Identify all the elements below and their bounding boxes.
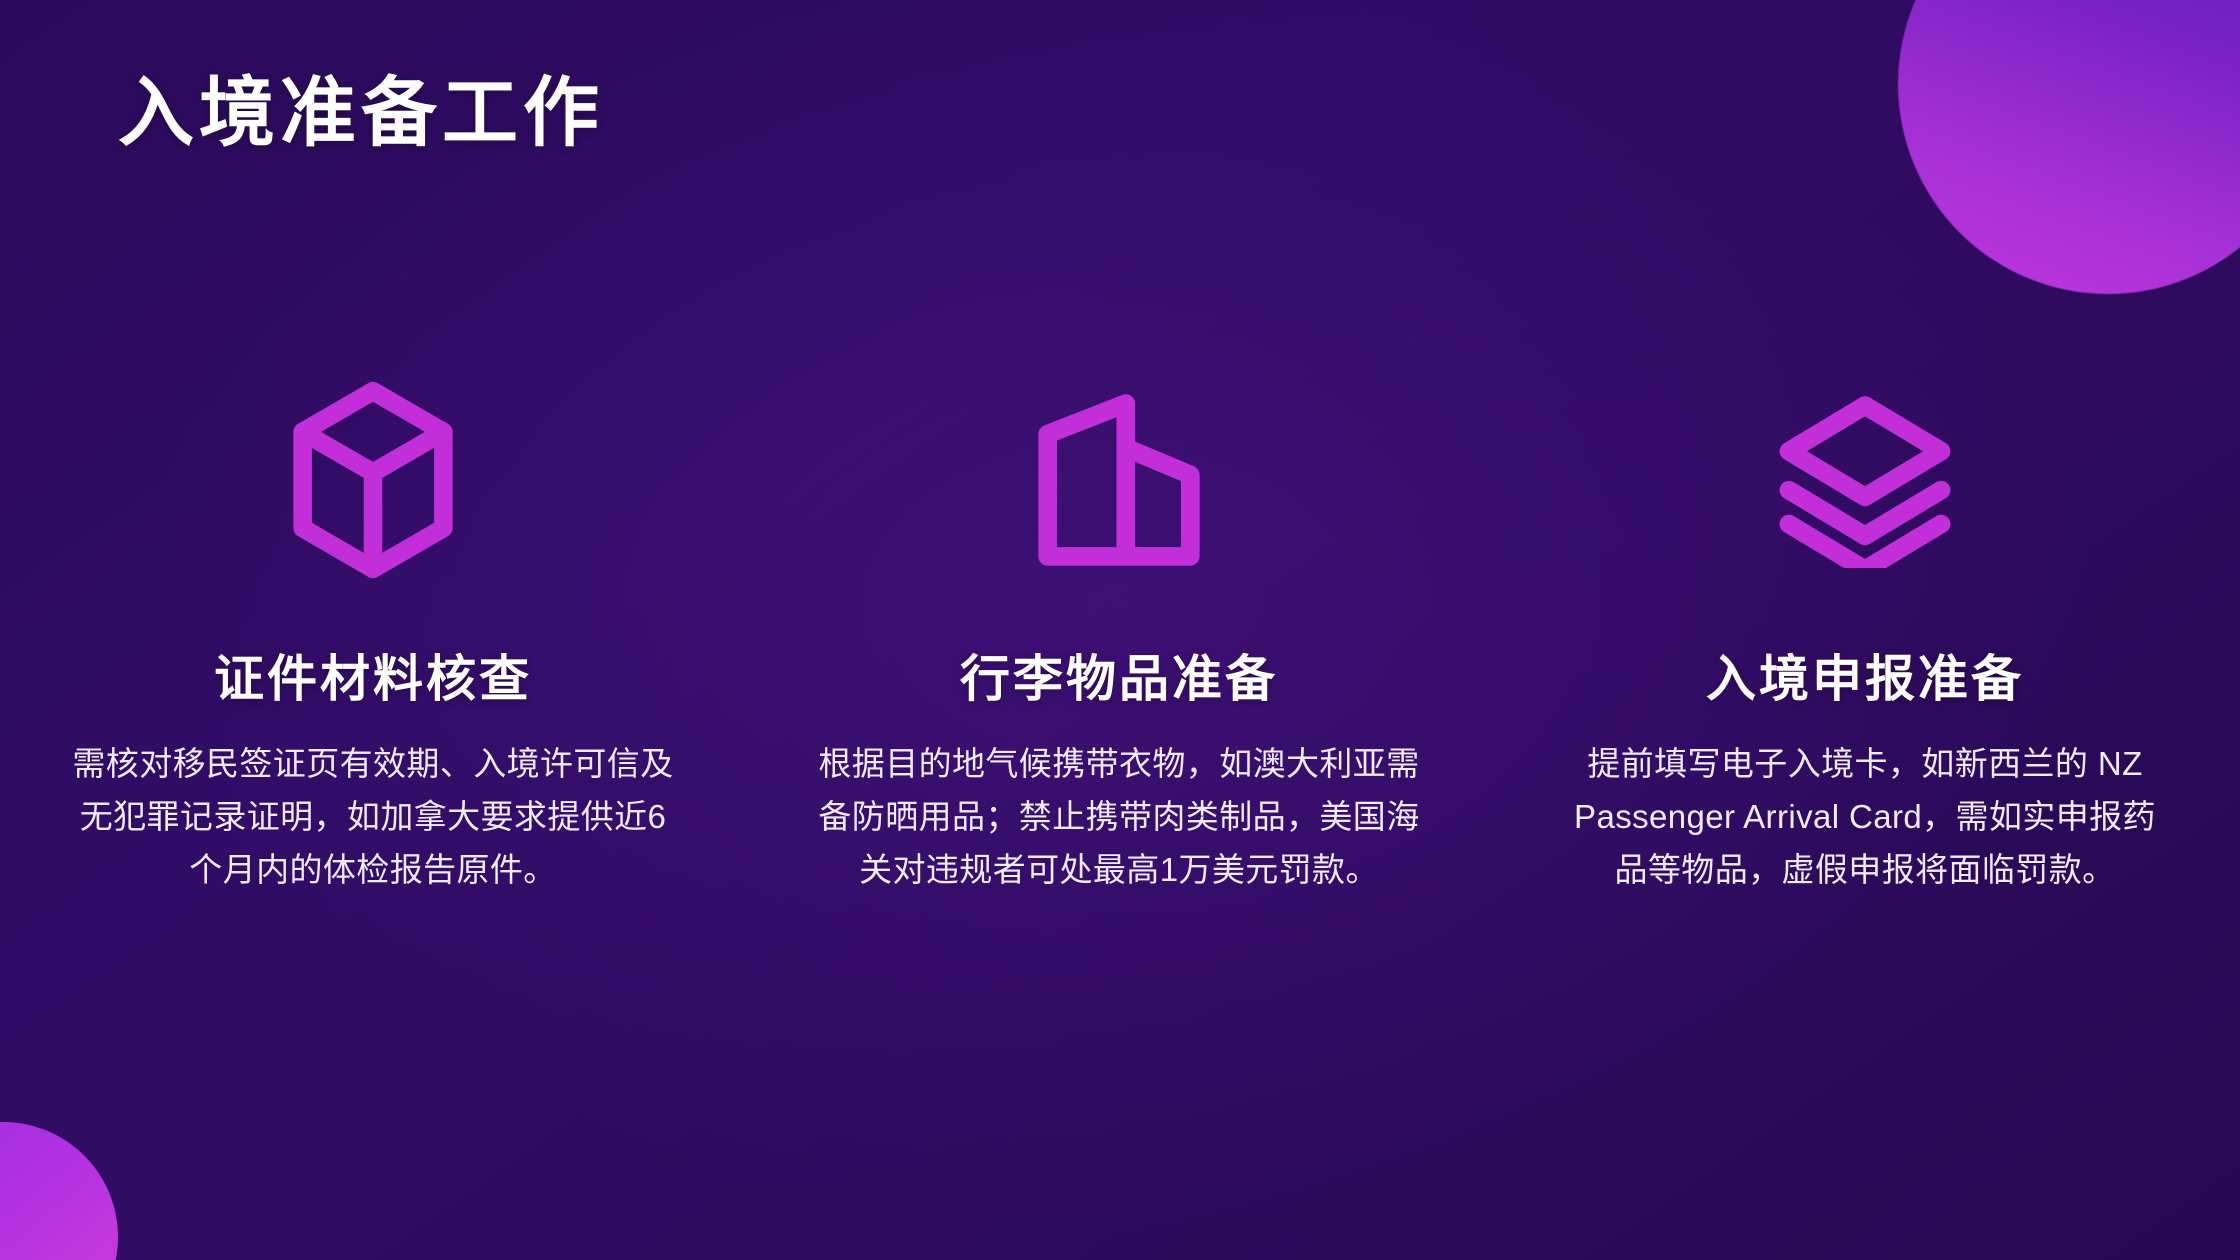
card-title: 证件材料核查 — [214, 651, 532, 709]
cube-icon — [280, 355, 466, 605]
bottom-left-circle-decoration — [0, 1122, 118, 1260]
slide-canvas: 入境准备工作 证件材料核查 需核对移民签证页有效期、入境许可信及无犯罪记录证明，… — [0, 0, 2240, 1260]
top-right-circle-decoration — [1898, 0, 2240, 294]
layers-stack-icon — [1775, 355, 1955, 605]
card-body: 根据目的地气候携带衣物，如澳大利亚需备防晒用品；禁止携带肉类制品，美国海关对违规… — [814, 737, 1424, 897]
card-title: 入境申报准备 — [1706, 651, 2024, 709]
buildings-icon — [1030, 355, 1208, 605]
card-body: 需核对移民签证页有效期、入境许可信及无犯罪记录证明，如加拿大要求提供近6个月内的… — [68, 737, 678, 897]
card-luggage-prep: 行李物品准备 根据目的地气候携带衣物，如澳大利亚需备防晒用品；禁止携带肉类制品，… — [746, 355, 1492, 897]
card-document-check: 证件材料核查 需核对移民签证页有效期、入境许可信及无犯罪记录证明，如加拿大要求提… — [0, 355, 746, 897]
card-body: 提前填写电子入境卡，如新西兰的 NZ Passenger Arrival Car… — [1560, 737, 2170, 897]
page-title: 入境准备工作 — [118, 72, 604, 156]
card-title: 行李物品准备 — [960, 651, 1278, 709]
card-arrival-declaration: 入境申报准备 提前填写电子入境卡，如新西兰的 NZ Passenger Arri… — [1492, 355, 2238, 897]
cards-row: 证件材料核查 需核对移民签证页有效期、入境许可信及无犯罪记录证明，如加拿大要求提… — [0, 355, 2240, 897]
